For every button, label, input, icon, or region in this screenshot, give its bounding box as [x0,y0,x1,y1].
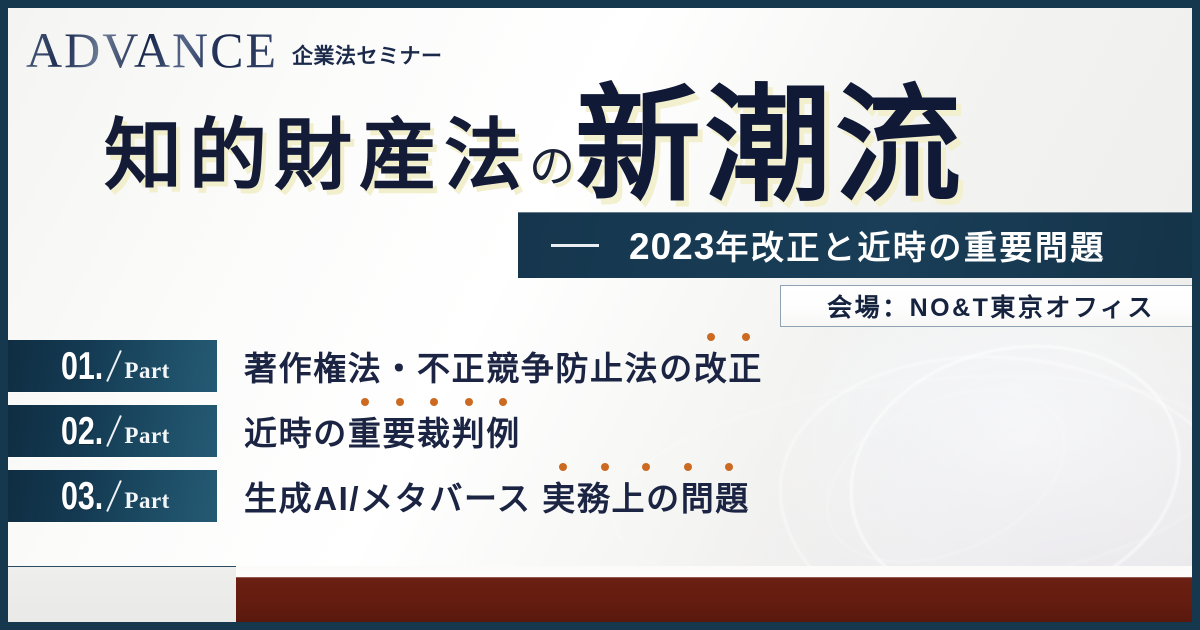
program-title-emphasis-wrap: 重要裁判例 [348,415,521,452]
subtitle-text: 2023年改正と近時の重要問題 [629,221,1106,269]
list-item[interactable]: 02. Part 近時の重要裁判例 [8,405,1192,457]
program-title-emphasis: 改正 [694,350,763,387]
part-label: Part [124,488,169,514]
footer-left-block [8,566,236,622]
subtitle-year: 2023 [629,226,715,267]
footer-gap [236,566,1192,577]
brand-eyebrow: ADVANCE 企業法セミナー [26,25,443,75]
part-number: 03. [61,477,103,516]
slash-icon [107,480,123,512]
emphasis-dots [694,333,763,341]
program-title: 著作権法・不正競争防止法の改正 [244,342,763,390]
footer-accent-bar [236,577,1192,622]
venue-box: 会場：NO&T東京オフィス [780,285,1192,327]
headline-part-a: 知的財産法 [104,116,529,194]
slash-icon [107,415,123,447]
program-title-emphasis-wrap: 実務上の問題 [542,480,750,517]
subtitle-body: 年改正と近時の重要問題 [715,229,1106,266]
part-number: 01. [61,347,103,386]
brand-wordmark: ADVANCE [26,25,278,75]
seminar-poster: ADVANCE 企業法セミナー 知的財産法 の 新潮流 2023年改正と近時の重… [0,0,1200,630]
slash-icon [107,350,123,382]
program-title-emphasis-wrap: 改正 [694,350,763,387]
program-title-emphasis: 重要裁判例 [348,415,521,452]
part-number: 02. [61,412,103,451]
part-badge: 02. Part [8,405,217,457]
program-title-plain: 著作権法・不正競争防止法の [244,350,694,387]
program-title-plain: 生成AI/メタバース [244,480,542,517]
dash-rule-icon [551,244,599,247]
page-title: 知的財産法 の 新潮流 [104,86,967,194]
headline-particle: の [529,144,577,194]
venue-label: 会場：NO&T東京オフィス [827,288,1155,324]
program-title: 近時の重要裁判例 [244,407,521,455]
program-list: 01. Part 著作権法・不正競争防止法の改正 02. Part 近時の重要裁… [8,340,1192,535]
program-title: 生成AI/メタバース 実務上の問題 [244,472,750,520]
list-item[interactable]: 03. Part 生成AI/メタバース 実務上の問題 [8,470,1192,522]
subtitle-band: 2023年改正と近時の重要問題 [518,212,1192,278]
emphasis-dots [542,463,750,471]
list-item[interactable]: 01. Part 著作権法・不正競争防止法の改正 [8,340,1192,392]
program-title-plain: 近時の [244,415,348,452]
program-title-emphasis: 実務上の問題 [542,480,750,517]
headline-part-b: 新潮流 [575,94,965,202]
part-badge: 03. Part [8,470,217,522]
poster-canvas: ADVANCE 企業法セミナー 知的財産法 の 新潮流 2023年改正と近時の重… [8,8,1192,622]
emphasis-dots [348,398,521,406]
brand-subtitle: 企業法セミナー [292,40,443,70]
part-badge: 01. Part [8,340,217,392]
part-label: Part [124,358,169,384]
part-label: Part [124,423,169,449]
